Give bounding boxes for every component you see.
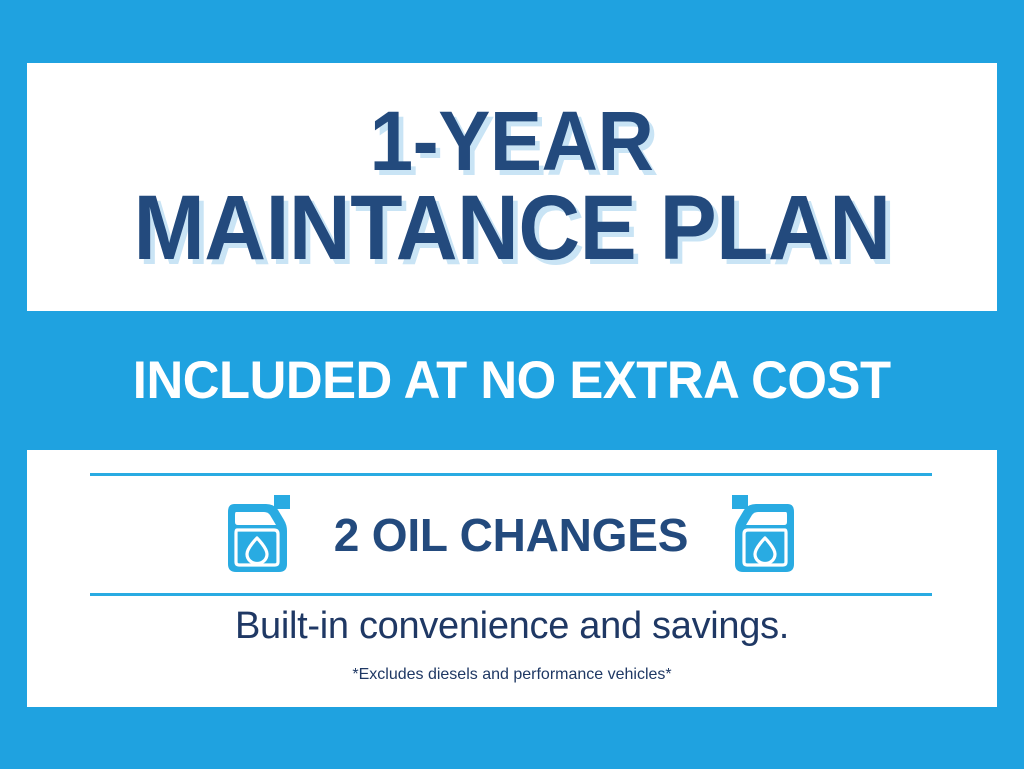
divider-bottom bbox=[90, 593, 932, 596]
promo-poster: 1-YEAR MAINTANCE PLAN INCLUDED AT NO EXT… bbox=[0, 0, 1024, 769]
details-card: 2 OIL CHANGES Built-in convenience and s… bbox=[27, 450, 997, 707]
oil-jug-icon bbox=[224, 494, 294, 576]
headline-card: 1-YEAR MAINTANCE PLAN bbox=[27, 63, 997, 311]
offer-title: 2 OIL CHANGES bbox=[334, 508, 688, 562]
subheading-text: INCLUDED AT NO EXTRA COST bbox=[133, 350, 891, 411]
offer-row: 2 OIL CHANGES bbox=[90, 476, 932, 593]
headline-line-1: 1-YEAR bbox=[370, 103, 654, 180]
oil-jug-icon bbox=[728, 494, 798, 576]
subheading-band: INCLUDED AT NO EXTRA COST bbox=[0, 311, 1024, 450]
tagline: Built-in convenience and savings. bbox=[27, 605, 997, 648]
fineprint-disclaimer: *Excludes diesels and performance vehicl… bbox=[27, 666, 997, 684]
headline-line-2: MAINTANCE PLAN bbox=[133, 186, 890, 271]
